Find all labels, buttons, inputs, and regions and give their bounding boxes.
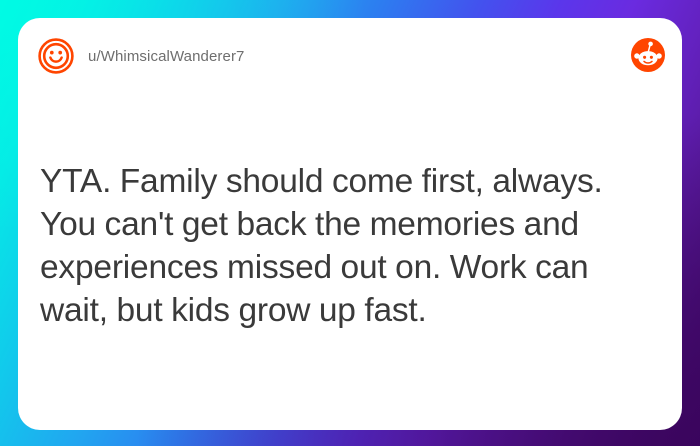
- reddit-snoo-logo-icon[interactable]: [631, 38, 665, 72]
- username-label: u/WhimsicalWanderer7: [88, 48, 245, 65]
- card-header: u/WhimsicalWanderer7: [18, 18, 682, 94]
- screenshot-root: u/WhimsicalWanderer7 YTA. Family should …: [0, 0, 700, 446]
- smiley-face-avatar-icon[interactable]: [37, 37, 75, 75]
- reddit-comment-card: u/WhimsicalWanderer7 YTA. Family should …: [18, 18, 682, 430]
- post-text: YTA. Family should come first, always. Y…: [40, 160, 658, 332]
